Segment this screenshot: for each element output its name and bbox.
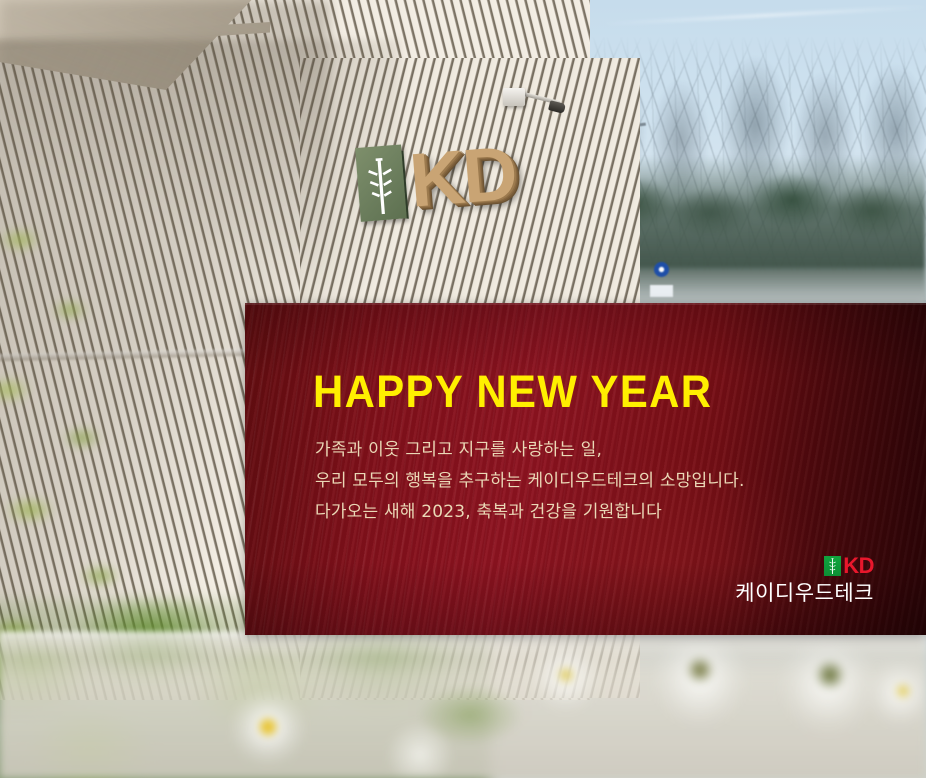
tree-icon xyxy=(366,155,396,215)
logo-initials: KD xyxy=(843,555,874,577)
building-kd-sign: KD xyxy=(355,134,513,230)
greeting-message: 가족과 이웃 그리고 지구를 사랑하는 일, 우리 모두의 행복을 추구하는 케… xyxy=(315,435,745,528)
road-sign-plate xyxy=(650,285,673,297)
page-title: HAPPY NEW YEAR xyxy=(313,366,712,418)
flower-icon xyxy=(0,635,926,778)
greeting-message-line: 가족과 이웃 그리고 지구를 사랑하는 일, xyxy=(315,435,745,466)
greeting-panel: HAPPY NEW YEAR 가족과 이웃 그리고 지구를 사랑하는 일, 우리… xyxy=(245,303,926,635)
panel-top-divider xyxy=(245,303,926,305)
tree-icon xyxy=(824,556,841,576)
greeting-message-line: 우리 모두의 행복을 추구하는 케이디우드테크의 소망입니다. xyxy=(315,466,745,497)
logo-row: KD xyxy=(735,555,874,577)
new-year-greeting-card: KD HAPPY NEW YEAR 가족과 이웃 그리고 지구를 사랑하는 일,… xyxy=(0,0,926,778)
road-sign-icon xyxy=(654,262,669,277)
company-logo: KD 케이디우드테크 xyxy=(735,555,874,606)
building-sign-letters: KD xyxy=(407,134,519,222)
greeting-message-line: 다가오는 새해 2023, 축복과 건강을 기원합니다 xyxy=(315,497,745,528)
tree-glyph xyxy=(826,558,839,574)
camera-icon xyxy=(503,88,525,106)
sign-box xyxy=(355,144,407,221)
company-name: 케이디우드테크 xyxy=(735,580,874,606)
